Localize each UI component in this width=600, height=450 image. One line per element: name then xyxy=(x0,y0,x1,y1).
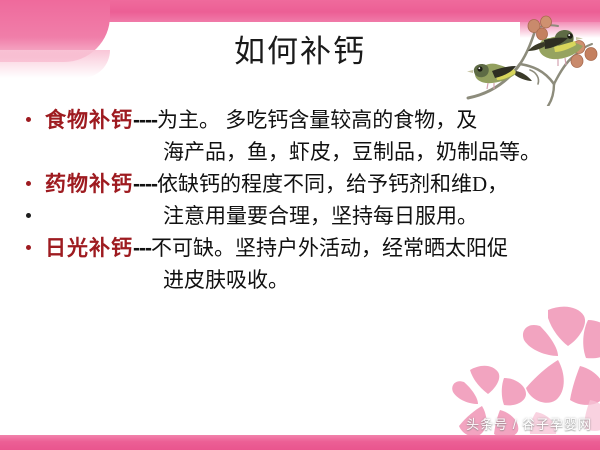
body-line: 食物补钙----为主。 多吃钙含量较高的食物，及 xyxy=(0,104,600,136)
birds-branch-svg xyxy=(462,14,598,106)
bullet-marker xyxy=(26,181,31,186)
bullet-marker xyxy=(26,117,31,122)
dash-separator: --- xyxy=(133,237,151,260)
body-line-text: 食物补钙----为主。 多吃钙含量较高的食物，及 xyxy=(45,104,477,137)
bullet-marker xyxy=(26,245,31,250)
body-line: 进皮肤吸收。 xyxy=(0,264,600,296)
keyword-text: 食物补钙 xyxy=(45,108,133,132)
keyword-text: 药物补钙 xyxy=(45,172,133,196)
body-line: 药物补钙----依缺钙的程度不同，给予钙剂和维D， xyxy=(0,168,600,200)
body-line-text: 海产品，鱼，虾皮，豆制品，奶制品等。 xyxy=(163,136,541,168)
body-text-rest: 进皮肤吸收。 xyxy=(163,268,289,292)
blossom-large xyxy=(523,307,600,405)
body-line-text: 日光补钙---不可缺。坚持户外活动，经常晒太阳促 xyxy=(45,232,508,265)
body-text-rest: 依缺钙的程度不同，给予钙剂和维D， xyxy=(157,172,508,196)
birds-on-branch-image xyxy=(462,14,598,106)
slide-body: 食物补钙----为主。 多吃钙含量较高的食物，及 海产品，鱼，虾皮，豆制品，奶制… xyxy=(0,104,600,296)
body-line: 日光补钙---不可缺。坚持户外活动，经常晒太阳促 xyxy=(0,232,600,264)
body-text-rest: 注意用量要合理，坚持每日服用。 xyxy=(163,204,478,228)
body-text-rest: 海产品，鱼，虾皮，豆制品，奶制品等。 xyxy=(163,140,541,164)
dash-separator: ---- xyxy=(133,109,157,132)
bottom-pink-band xyxy=(0,435,600,450)
body-line-text: 注意用量要合理，坚持每日服用。 xyxy=(163,200,478,232)
dash-separator: ---- xyxy=(133,173,157,196)
body-line-text: 药物补钙----依缺钙的程度不同，给予钙剂和维D， xyxy=(45,168,508,201)
slide-canvas: 如何补钙 xyxy=(0,0,600,450)
body-line: 海产品，鱼，虾皮，豆制品，奶制品等。 xyxy=(0,136,600,168)
body-line: 注意用量要合理，坚持每日服用。 xyxy=(0,200,600,232)
watermark-text: 头条号 / 谷子孕婴网 xyxy=(466,414,592,433)
body-line-text: 进皮肤吸收。 xyxy=(163,264,289,296)
bullet-marker xyxy=(26,213,31,218)
keyword-text: 日光补钙 xyxy=(45,236,133,260)
body-text-rest: 不可缺。坚持户外活动，经常晒太阳促 xyxy=(151,236,508,260)
body-text-rest: 为主。 多吃钙含量较高的食物，及 xyxy=(157,108,477,132)
